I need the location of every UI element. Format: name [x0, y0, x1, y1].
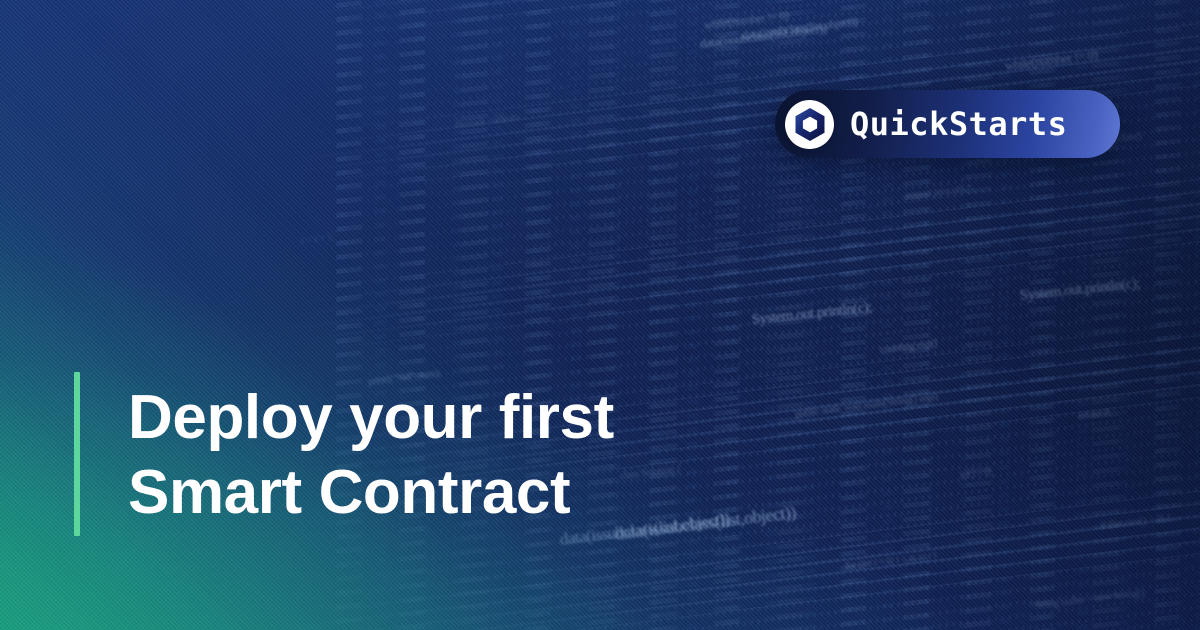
page-title-line-1: Deploy your first — [128, 380, 614, 455]
page-title-line-2: Smart Contract — [128, 455, 614, 530]
page-title: Deploy your first Smart Contract — [128, 372, 614, 536]
badge-label: QuickStarts — [850, 108, 1067, 140]
headline-block: Deploy your first Smart Contract — [74, 372, 614, 536]
accent-bar — [74, 372, 80, 536]
chainlink-hexagon-icon — [785, 100, 834, 149]
quickstarts-badge[interactable]: QuickStarts — [775, 90, 1120, 158]
quickstarts-banner: System.out.println(c);System.out.println… — [0, 0, 1200, 630]
